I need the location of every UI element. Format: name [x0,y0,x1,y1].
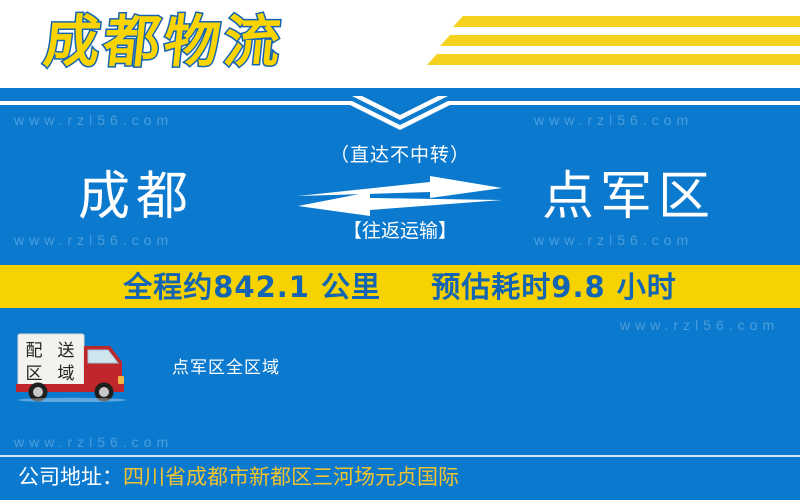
poster-header: 成都物流 [0,0,800,88]
duration-text: 预估耗时9.8 小时 [431,270,676,304]
delivery-truck-icon: 配 送 区 域 [10,332,155,402]
company-address-value: 四川省成都市新都区三河场元贞国际 [123,465,459,489]
decorative-stripes [418,14,800,76]
distance-text: 全程约842.1 公里 [123,270,381,304]
roundtrip-label: 【往返运输】 [280,218,520,244]
destination-city: 点军区 [542,164,716,230]
direct-shipping-label: （直达不中转） [280,142,520,168]
delivery-row: 配 送 区 域 点军区全区域 [0,332,800,408]
stats-band: 全程约842.1 公里 预估耗时9.8 小时 [0,265,800,308]
brand-title: 成都物流 [40,6,288,80]
route-row: 成都 （直达不中转） 【往返运输】 点军区 [0,140,800,255]
stats-text: 全程约842.1 公里 预估耗时9.8 小时 [123,268,677,306]
footer-divider [0,455,800,457]
stripe-2 [440,35,800,46]
truck-box-char-1: 配 [26,341,43,361]
company-address-label: 公司地址： [18,465,123,489]
truck-box-char-2: 送 [58,341,75,361]
truck-box-char-3: 区 [26,364,43,384]
origin-city: 成都 [78,164,194,230]
logistics-poster: 成都物流 成都 （直达不中转） 【往返运输】 点军区 [0,0,800,500]
stripe-3 [427,54,800,65]
company-address: 公司地址：四川省成都市新都区三河场元贞国际 [18,462,459,492]
bidirectional-arrow-icon [280,176,520,218]
route-middle: （直达不中转） 【往返运输】 [280,140,520,255]
chevron-down-icon [0,96,800,130]
truck-box-char-4: 域 [58,364,75,384]
stripe-1 [453,16,800,27]
delivery-coverage-text: 点军区全区域 [172,356,280,380]
